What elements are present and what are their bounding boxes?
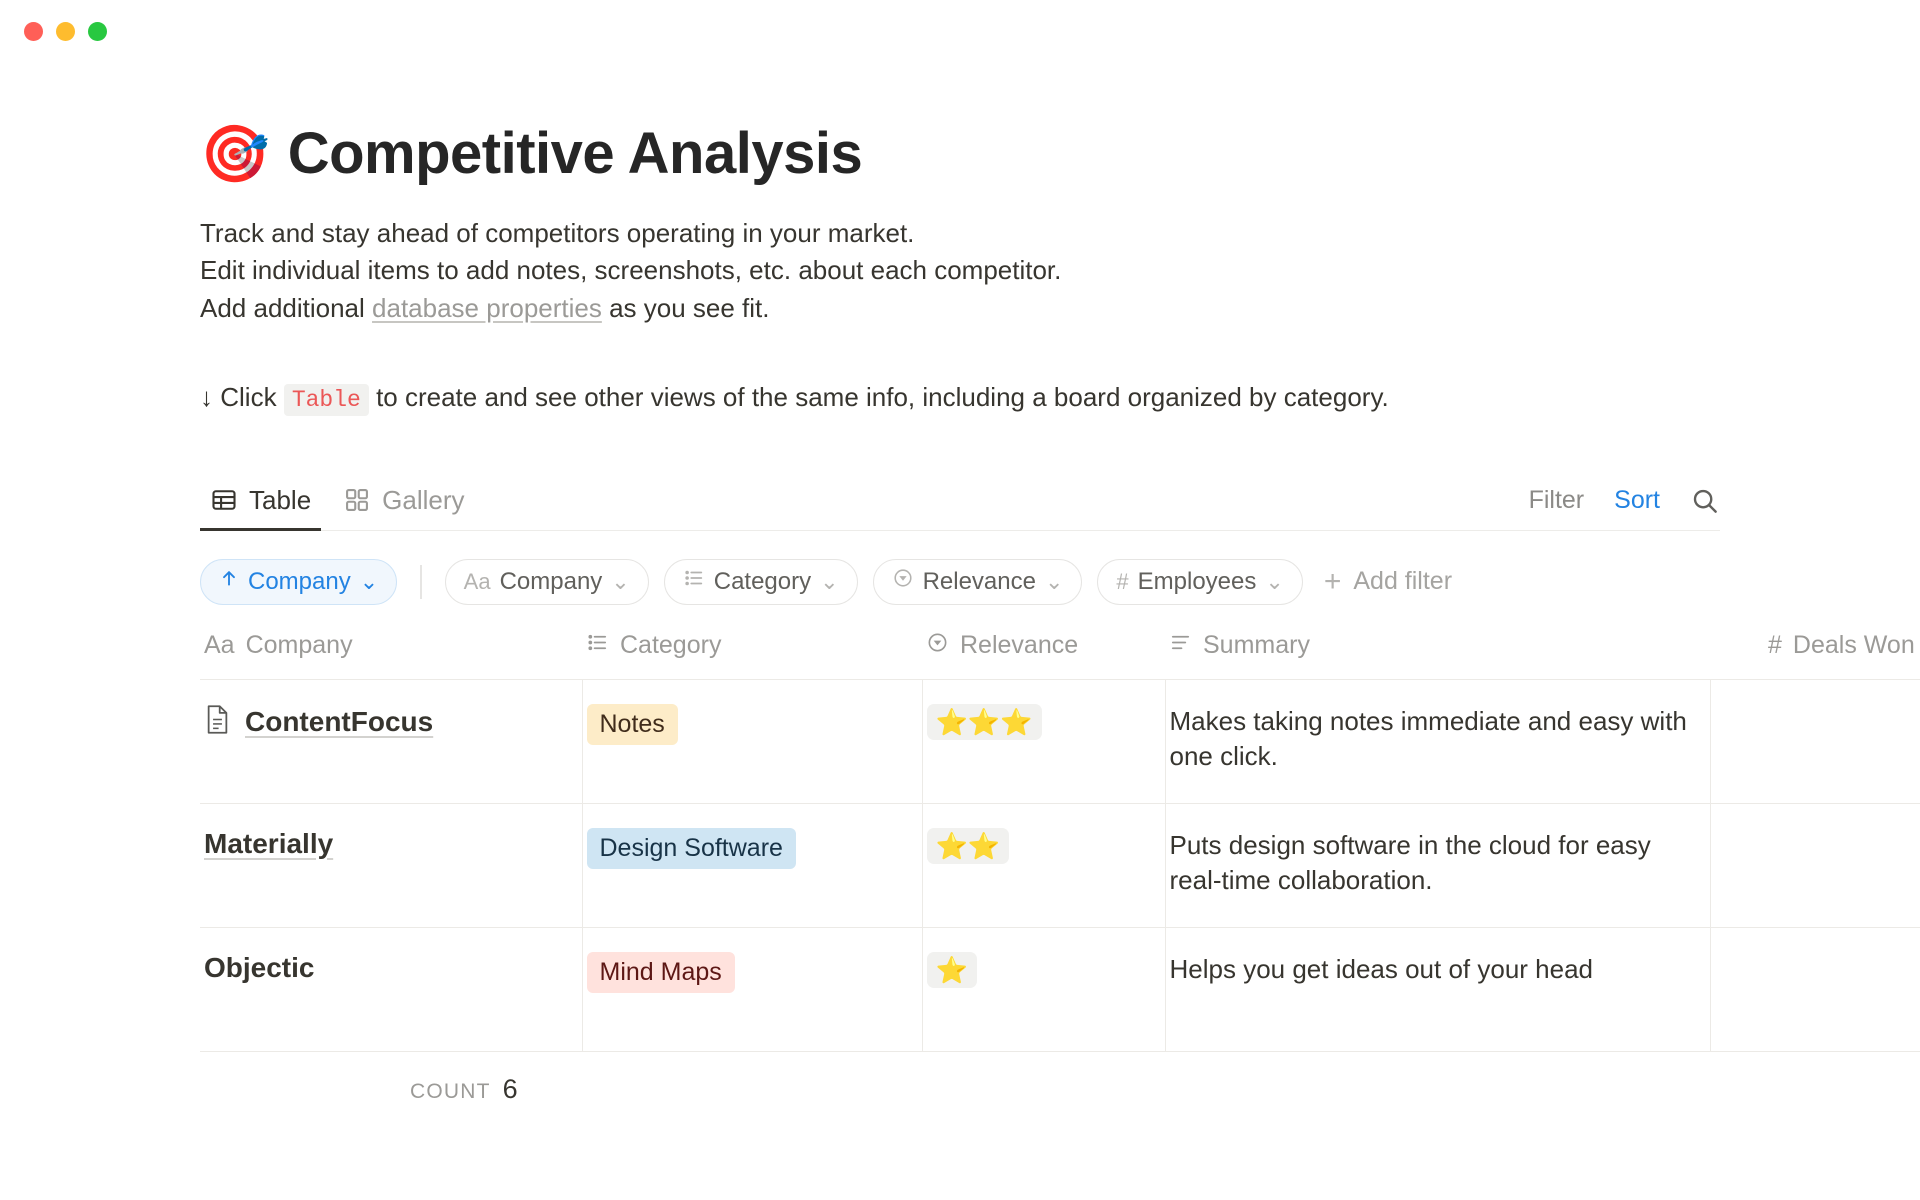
text-property-icon: Aa <box>204 631 235 660</box>
page-description: Track and stay ahead of competitors oper… <box>200 215 1920 327</box>
table-row[interactable]: Objectic Mind Maps ⭐ Helps you get ideas… <box>200 927 1920 1051</box>
cell-relevance[interactable]: ⭐⭐ <box>922 803 1165 927</box>
table-footer: COUNT 6 <box>200 1074 1920 1105</box>
callout-text: ↓ Click Table to create and see other vi… <box>200 379 1920 416</box>
callout-prefix: Click <box>220 382 276 412</box>
relevance-stars: ⭐⭐ <box>927 828 1010 864</box>
filter-button[interactable]: Filter <box>1529 486 1585 515</box>
cell-company[interactable]: Materially <box>200 803 582 927</box>
table-row[interactable]: ContentFocus Notes ⭐⭐⭐ Makes taking note… <box>200 679 1920 803</box>
tab-gallery[interactable]: Gallery <box>333 485 474 530</box>
page-header: 🎯 Competitive Analysis <box>200 120 1920 187</box>
select-property-icon <box>926 631 949 661</box>
traffic-light-controls <box>24 22 107 41</box>
callout-suffix: to create and see other views of the sam… <box>376 382 1389 412</box>
page-content: 🎯 Competitive Analysis Track and stay ah… <box>0 120 1920 1105</box>
chevron-down-icon: ⌄ <box>611 569 629 595</box>
deals-won-value <box>1715 952 1920 982</box>
cell-summary[interactable]: Puts design software in the cloud for ea… <box>1165 803 1710 927</box>
column-header-company[interactable]: Aa Company <box>200 631 582 680</box>
sort-button[interactable]: Sort <box>1614 486 1660 515</box>
deals-won-value: 0 <box>1715 828 1920 858</box>
filter-chip-employees-label: Employees <box>1138 568 1257 596</box>
summary-text: Makes taking notes immediate and easy wi… <box>1170 706 1687 771</box>
chevron-down-icon: ⌄ <box>1265 569 1283 595</box>
cell-category[interactable]: Mind Maps <box>582 927 922 1051</box>
description-line-2: Edit individual items to add notes, scre… <box>200 252 1920 289</box>
maximize-window-button[interactable] <box>88 22 107 41</box>
page-title[interactable]: Competitive Analysis <box>288 120 862 187</box>
summary-text: Helps you get ideas out of your head <box>1170 954 1594 984</box>
window-titlebar <box>0 0 1920 58</box>
cell-summary[interactable]: Makes taking notes immediate and easy wi… <box>1165 679 1710 803</box>
column-header-category[interactable]: Category <box>582 631 922 680</box>
sort-chip-label: Company <box>248 568 351 596</box>
description-line-3-prefix: Add additional <box>200 293 372 323</box>
table-icon <box>210 486 238 514</box>
number-property-icon: # <box>1116 569 1128 595</box>
chevron-down-icon: ⌄ <box>1045 569 1063 595</box>
category-tag: Mind Maps <box>587 952 735 993</box>
cell-category[interactable]: Design Software <box>582 803 922 927</box>
column-header-deals-won[interactable]: # Deals Won <box>1710 631 1920 680</box>
database-table: Aa Company Category <box>200 631 1920 1052</box>
plus-icon: + <box>1324 567 1342 597</box>
search-icon[interactable] <box>1690 486 1720 516</box>
cell-company[interactable]: Objectic <box>200 927 582 1051</box>
add-filter-label: Add filter <box>1353 567 1452 596</box>
filter-chip-company[interactable]: Aa Company ⌄ <box>445 559 649 605</box>
filter-chip-relevance-label: Relevance <box>923 568 1036 596</box>
count-value[interactable]: 6 <box>503 1074 518 1105</box>
category-tag: Notes <box>587 704 678 745</box>
filter-chip-category[interactable]: Category ⌄ <box>664 559 858 605</box>
database-view-bar: Table Gallery Filter Sort <box>200 469 1720 531</box>
column-header-company-label: Company <box>246 631 353 660</box>
category-tag: Design Software <box>587 828 796 869</box>
description-line-1: Track and stay ahead of competitors oper… <box>200 215 1920 252</box>
cell-relevance[interactable]: ⭐⭐⭐ <box>922 679 1165 803</box>
database-toolbar: Filter Sort <box>1529 486 1720 530</box>
text-property-icon: Aa <box>464 569 491 595</box>
tab-table[interactable]: Table <box>200 485 321 530</box>
column-header-category-label: Category <box>620 631 721 660</box>
filter-chip-relevance[interactable]: Relevance ⌄ <box>873 559 1083 605</box>
cell-summary[interactable]: Helps you get ideas out of your head <box>1165 927 1710 1051</box>
chevron-down-icon: ⌄ <box>820 569 838 595</box>
relevance-stars: ⭐ <box>927 952 977 988</box>
filter-chip-category-label: Category <box>714 568 811 596</box>
row-title-link[interactable]: Objectic <box>204 952 314 984</box>
text-lines-property-icon <box>1169 631 1192 661</box>
tab-table-label: Table <box>249 485 311 516</box>
sort-chip-company[interactable]: Company ⌄ <box>200 559 397 605</box>
filter-chip-company-label: Company <box>500 568 603 596</box>
select-property-icon <box>892 567 914 596</box>
table-row[interactable]: Materially Design Software ⭐⭐ Puts desig… <box>200 803 1920 927</box>
table-code-chip: Table <box>284 384 369 416</box>
description-line-3-suffix: as you see fit. <box>602 293 770 323</box>
add-filter-button[interactable]: + Add filter <box>1318 567 1452 597</box>
multi-select-property-icon <box>683 567 705 596</box>
number-property-icon: # <box>1768 631 1782 660</box>
count-label: COUNT <box>410 1080 491 1104</box>
callout-arrow: ↓ <box>200 382 213 412</box>
column-header-relevance[interactable]: Relevance <box>922 631 1165 680</box>
arrow-up-icon <box>219 567 239 596</box>
chip-divider <box>420 565 422 599</box>
cell-company[interactable]: ContentFocus <box>200 679 582 803</box>
column-header-relevance-label: Relevance <box>960 631 1078 660</box>
gallery-icon <box>343 486 371 514</box>
deals-won-value: 1 <box>1715 704 1920 734</box>
cell-deals-won[interactable]: 0 <box>1710 803 1920 927</box>
cell-category[interactable]: Notes <box>582 679 922 803</box>
row-title-link[interactable]: Materially <box>204 828 333 860</box>
relevance-stars: ⭐⭐⭐ <box>927 704 1042 740</box>
target-emoji-icon: 🎯 <box>200 126 270 182</box>
column-header-summary[interactable]: Summary <box>1165 631 1710 680</box>
chevron-down-icon: ⌄ <box>360 569 378 595</box>
filter-chip-row: Company ⌄ Aa Company ⌄ Category ⌄ <box>200 559 1920 605</box>
cell-deals-won[interactable] <box>1710 927 1920 1051</box>
description-line-3: Add additional database properties as yo… <box>200 290 1920 327</box>
row-title-link[interactable]: ContentFocus <box>245 706 433 738</box>
cell-relevance[interactable]: ⭐ <box>922 927 1165 1051</box>
view-tabs: Table Gallery <box>200 469 475 530</box>
page-document-icon <box>204 704 231 740</box>
filter-chip-employees[interactable]: # Employees ⌄ <box>1097 559 1302 605</box>
tab-gallery-label: Gallery <box>382 485 464 516</box>
close-window-button[interactable] <box>24 22 43 41</box>
minimize-window-button[interactable] <box>56 22 75 41</box>
column-header-deals-won-label: Deals Won <box>1793 631 1915 660</box>
cell-deals-won[interactable]: 1 <box>1710 679 1920 803</box>
multi-select-property-icon <box>586 631 609 661</box>
summary-text: Puts design software in the cloud for ea… <box>1170 830 1651 895</box>
column-header-summary-label: Summary <box>1203 631 1310 660</box>
table-header-row: Aa Company Category <box>200 631 1920 680</box>
database-properties-link[interactable]: database properties <box>372 293 602 323</box>
